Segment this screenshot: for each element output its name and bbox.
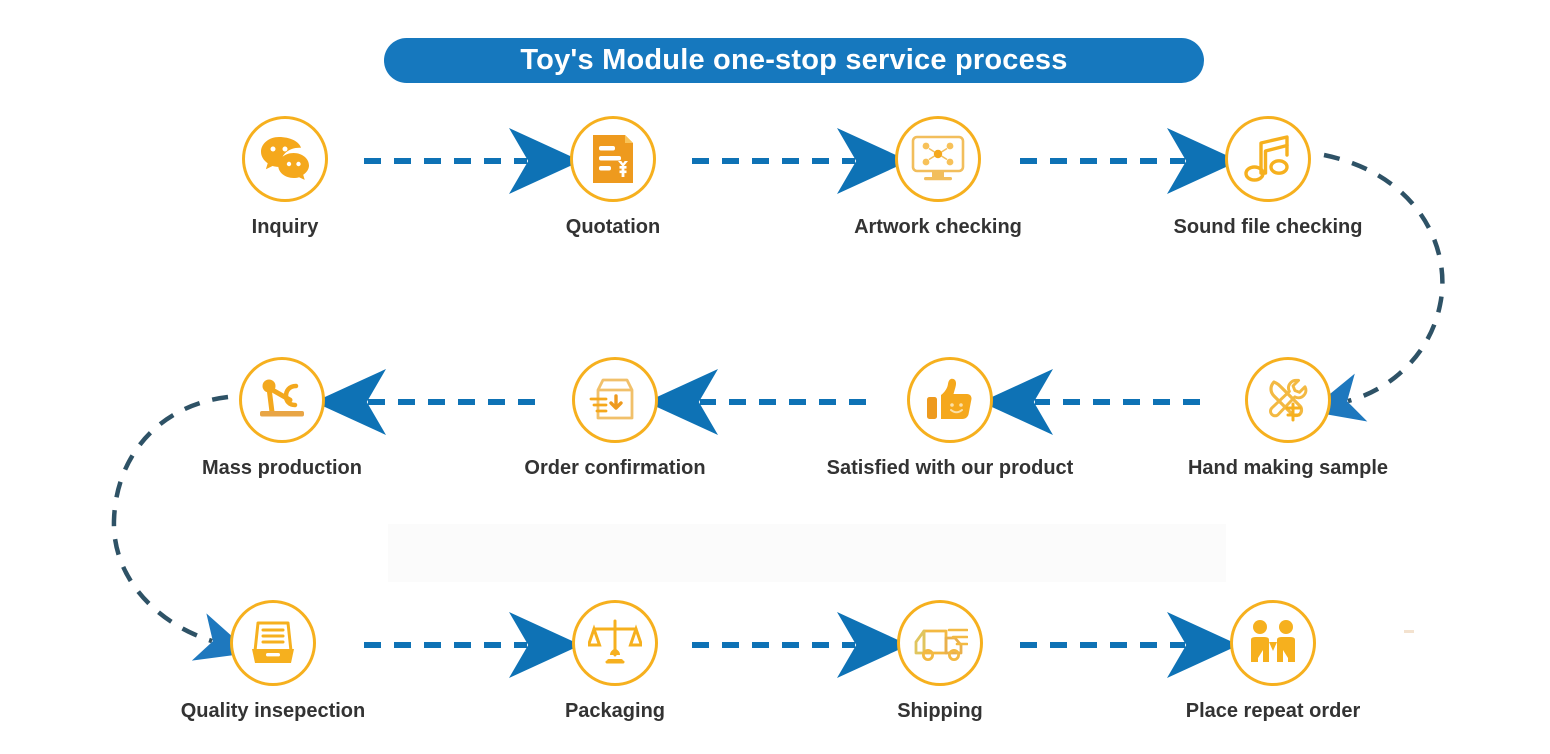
document-tray-icon bbox=[230, 600, 316, 686]
step-label-artwork-checking: Artwork checking bbox=[854, 216, 1022, 239]
step-label-packaging: Packaging bbox=[565, 700, 665, 723]
step-node-sound-file-checking[interactable]: Sound file checking bbox=[1143, 116, 1393, 239]
step-node-quality-inspection[interactable]: Quality insepection bbox=[148, 600, 398, 723]
step-label-inquiry: Inquiry bbox=[252, 216, 319, 239]
step-label-quality-inspection: Quality insepection bbox=[181, 700, 365, 723]
step-label-order-confirmation: Order confirmation bbox=[524, 457, 705, 480]
step-label-mass-production: Mass production bbox=[202, 457, 362, 480]
step-node-quotation[interactable]: Quotation bbox=[488, 116, 738, 239]
step-label-satisfied-with-product: Satisfied with our product bbox=[827, 457, 1074, 480]
step-node-artwork-checking[interactable]: Artwork checking bbox=[813, 116, 1063, 239]
page-title: Toy's Module one-stop service process bbox=[520, 44, 1067, 77]
handshake-people-icon bbox=[1230, 600, 1316, 686]
background-artifact-dot bbox=[1404, 630, 1414, 633]
step-label-sound-file-checking: Sound file checking bbox=[1174, 216, 1363, 239]
background-artifact-band bbox=[388, 524, 1226, 582]
step-node-packaging[interactable]: Packaging bbox=[490, 600, 740, 723]
step-node-place-repeat-order[interactable]: Place repeat order bbox=[1148, 600, 1398, 723]
step-node-inquiry[interactable]: Inquiry bbox=[160, 116, 410, 239]
invoice-currency-icon bbox=[570, 116, 656, 202]
step-node-order-confirmation[interactable]: Order confirmation bbox=[490, 357, 740, 480]
balance-scale-icon bbox=[572, 600, 658, 686]
step-label-quotation: Quotation bbox=[566, 216, 660, 239]
step-node-shipping[interactable]: Shipping bbox=[815, 600, 1065, 723]
chat-bubbles-icon bbox=[242, 116, 328, 202]
step-node-mass-production[interactable]: Mass production bbox=[157, 357, 407, 480]
inbox-download-icon bbox=[572, 357, 658, 443]
thumbs-up-icon bbox=[907, 357, 993, 443]
delivery-truck-icon bbox=[897, 600, 983, 686]
step-label-hand-making-sample: Hand making sample bbox=[1188, 457, 1388, 480]
wrench-screwdriver-icon bbox=[1245, 357, 1331, 443]
diagram-canvas: Toy's Module one-stop service process bbox=[0, 0, 1550, 754]
monitor-design-icon bbox=[895, 116, 981, 202]
diagram-title-banner: Toy's Module one-stop service process bbox=[384, 38, 1204, 83]
step-node-hand-making-sample[interactable]: Hand making sample bbox=[1163, 357, 1413, 480]
robot-arm-icon bbox=[239, 357, 325, 443]
step-label-shipping: Shipping bbox=[897, 700, 983, 723]
music-note-icon bbox=[1225, 116, 1311, 202]
step-label-place-repeat-order: Place repeat order bbox=[1186, 700, 1361, 723]
step-node-satisfied-with-product[interactable]: Satisfied with our product bbox=[825, 357, 1075, 480]
